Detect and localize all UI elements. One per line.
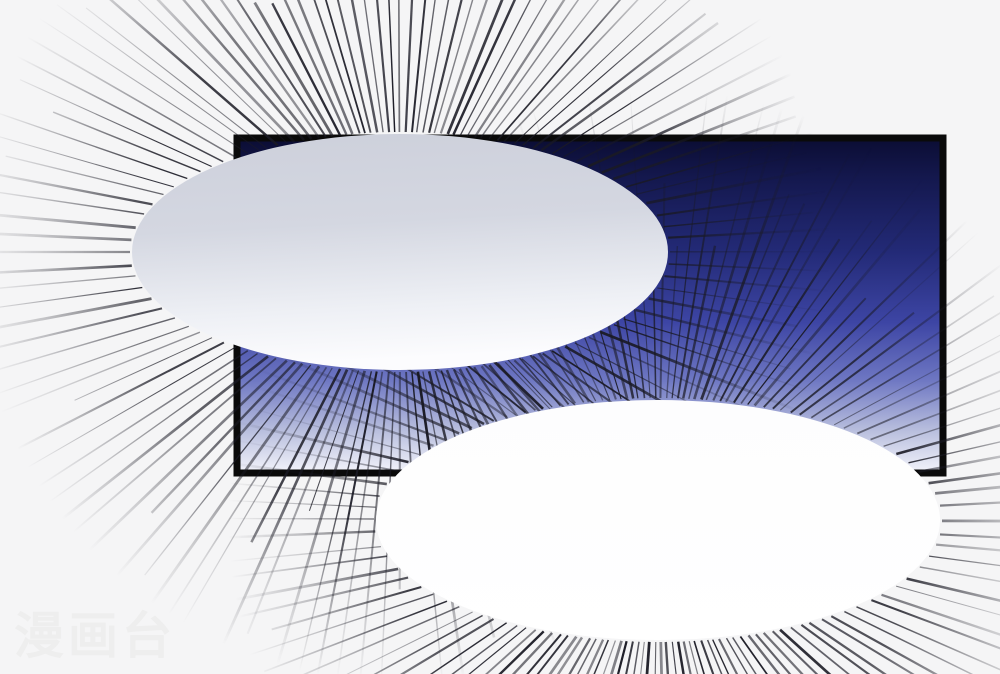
site-watermark: 漫画台 (14, 596, 176, 668)
burst-ray (222, 519, 374, 520)
burst-ray (942, 521, 1000, 522)
comic-artwork (0, 0, 1000, 674)
speech-bubble-one (132, 134, 668, 370)
comic-panel-canvas: 本打算让赵妃和其他女神一起 拿下这个程方言，没想到半路 杀出这么个女神。 不对，… (0, 0, 1000, 674)
speech-bubble-two (376, 400, 940, 640)
